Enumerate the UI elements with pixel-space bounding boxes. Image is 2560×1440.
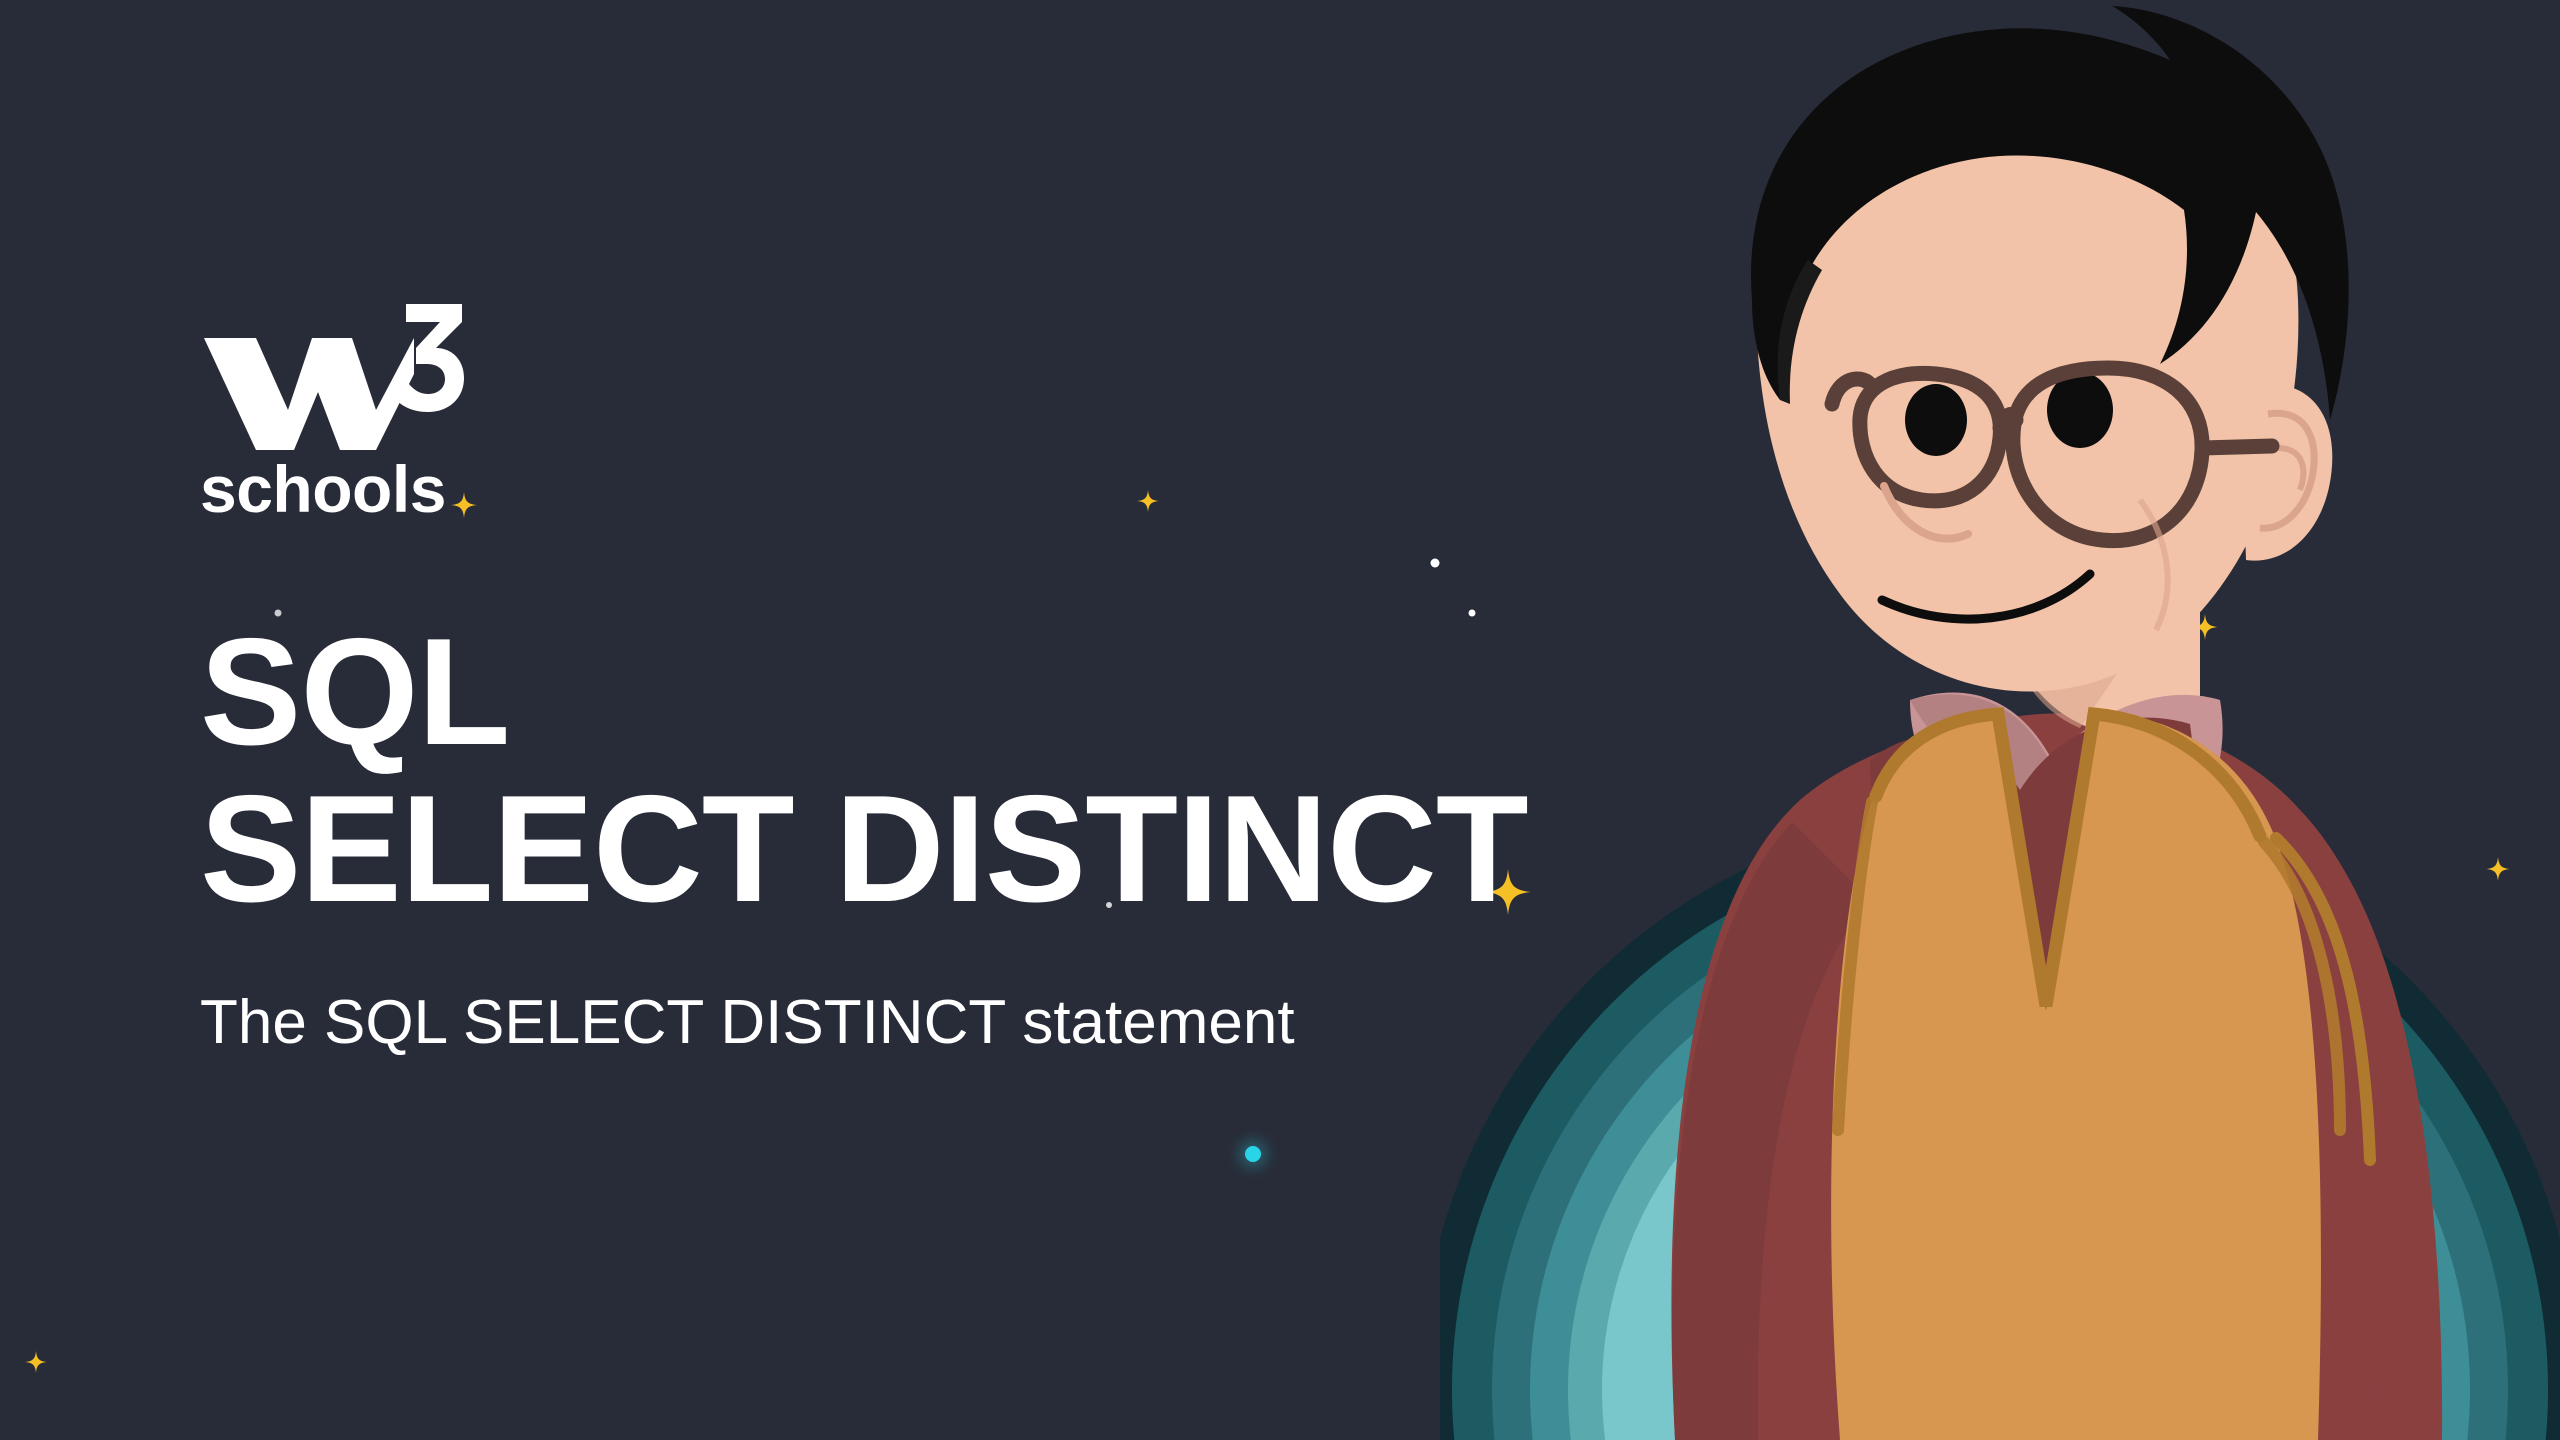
astronaut-student-character bbox=[1440, 0, 2560, 1440]
cyan-glow-dot-icon bbox=[1245, 1146, 1261, 1162]
w3schools-logo[interactable]: schools bbox=[200, 300, 490, 522]
w3-logo-mark-icon bbox=[200, 300, 468, 450]
right-eye bbox=[2047, 372, 2113, 448]
page-subtitle: The SQL SELECT DISTINCT statement bbox=[200, 989, 1600, 1057]
logo-wordmark: schools bbox=[200, 456, 490, 522]
left-eye bbox=[1905, 384, 1967, 456]
page-title: SQL SELECT DISTINCT bbox=[200, 614, 1600, 927]
hero-banner: schools SQL SELECT DISTINCT The SQL SELE… bbox=[0, 0, 2560, 1440]
character-ear bbox=[2240, 384, 2332, 560]
character-head bbox=[1751, 6, 2349, 692]
sparkle-bottom-left-icon bbox=[25, 1351, 47, 1373]
hero-content: schools SQL SELECT DISTINCT The SQL SELE… bbox=[200, 300, 1600, 1057]
page-title-line2: SELECT DISTINCT bbox=[200, 771, 1600, 928]
page-title-line1: SQL bbox=[200, 614, 1600, 771]
